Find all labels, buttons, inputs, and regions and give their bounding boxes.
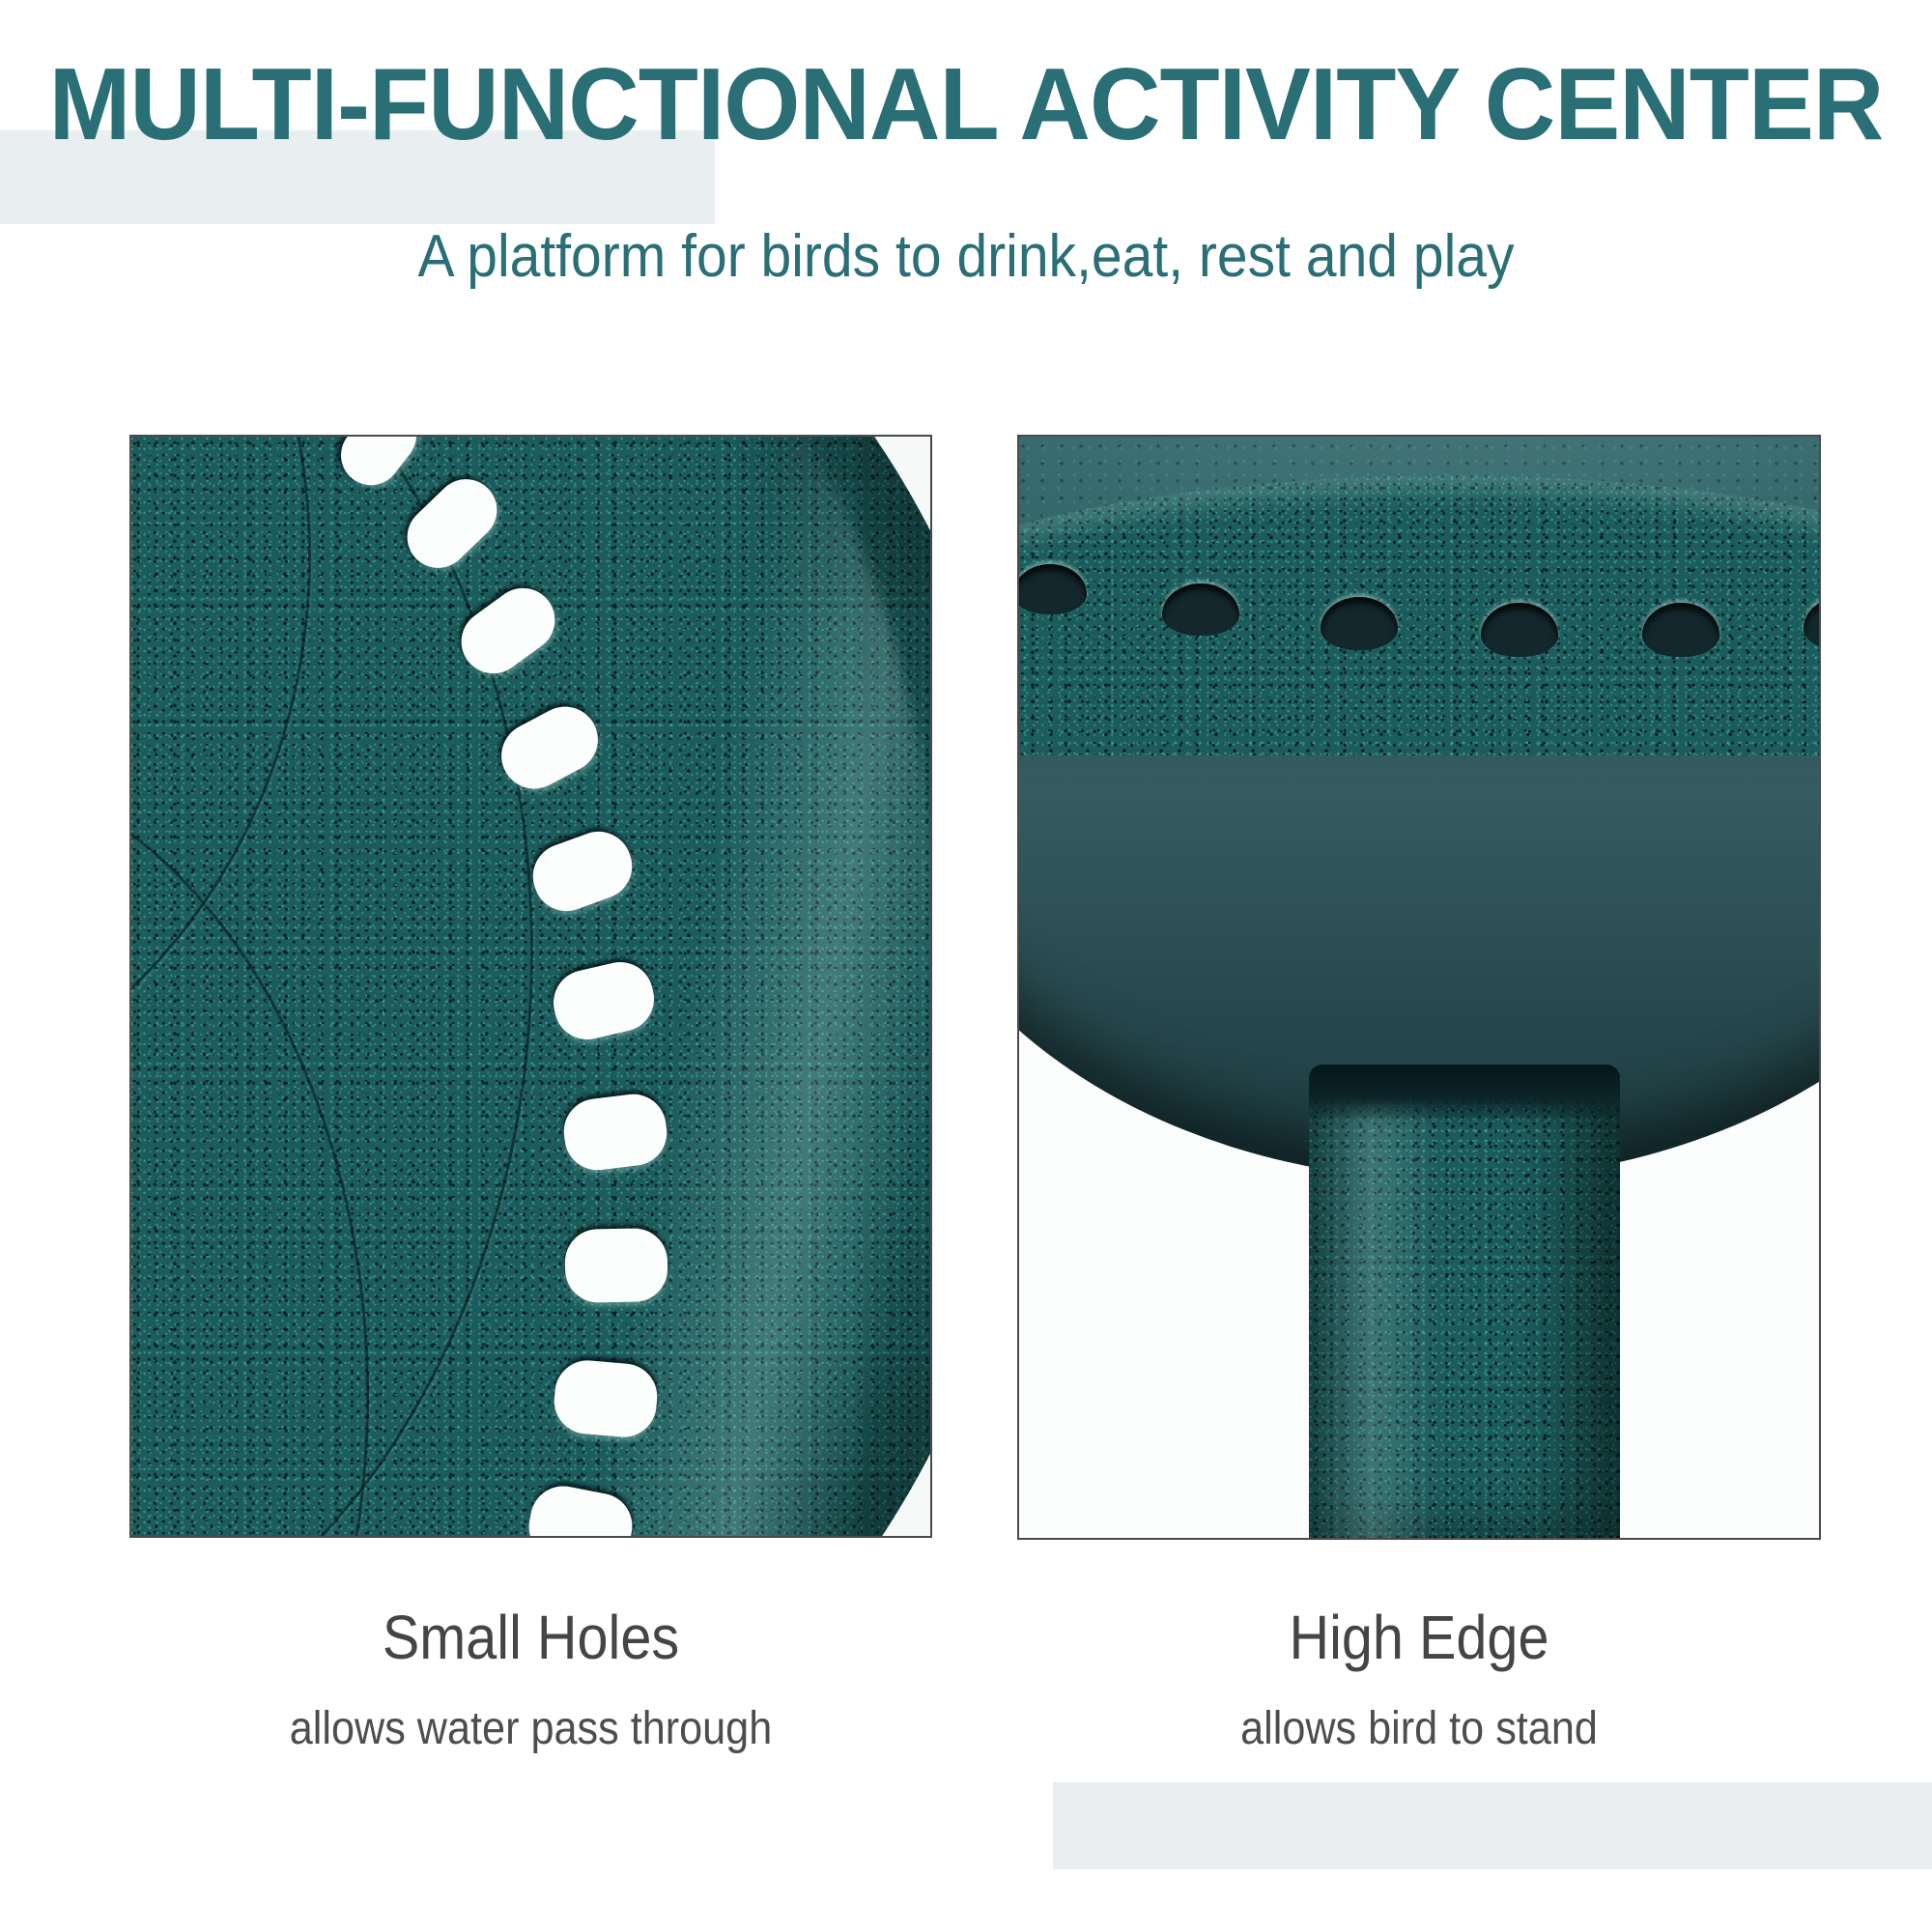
pedestal-top-shadow [1309, 1065, 1620, 1124]
bird-bath-high-edge-photo [1019, 437, 1819, 1538]
feature-caption-left: Small Holes allows water pass through [129, 1604, 932, 1755]
feature-title: High Edge [1058, 1604, 1781, 1673]
feature-photo-panel-right [1017, 435, 1821, 1540]
page-title: MULTI-FUNCTIONAL ACTIVITY CENTER [39, 50, 1893, 158]
drainage-hole [552, 1358, 660, 1440]
page-subtitle: A platform for birds to drink,eat, rest … [77, 224, 1855, 290]
feature-caption-right: High Edge allows bird to stand [1017, 1604, 1821, 1755]
footer-accent-band [1053, 1782, 1932, 1869]
bird-bath-rim-holes-photo [131, 437, 930, 1536]
feature-title: Small Holes [170, 1604, 893, 1673]
drainage-hole [564, 1228, 668, 1303]
feature-description: allows bird to stand [1058, 1702, 1781, 1755]
feature-description: allows water pass through [170, 1702, 893, 1755]
photo-white-background [640, 437, 930, 1536]
feature-photo-panel-left [129, 435, 932, 1538]
pedestal-highlight [1309, 1065, 1620, 1538]
